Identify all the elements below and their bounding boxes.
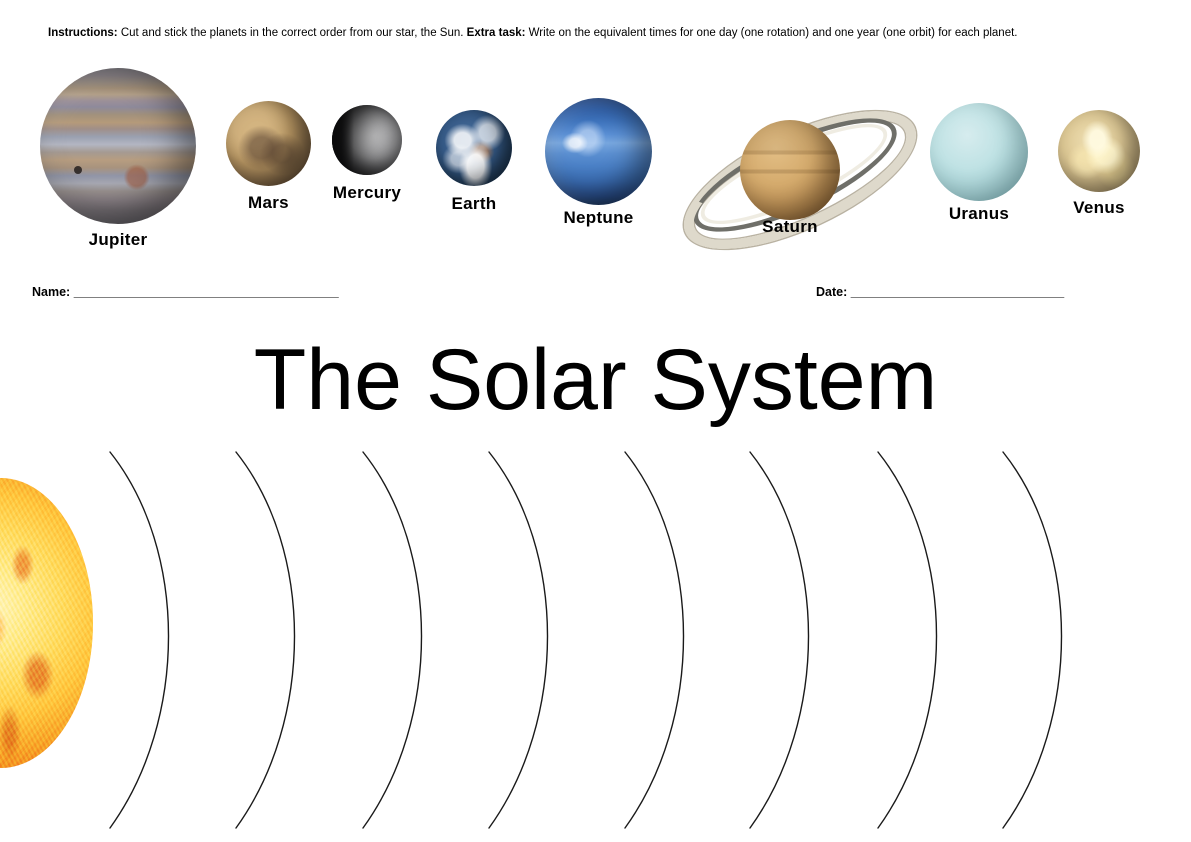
planet-cutout-neptune[interactable]: Neptune	[545, 98, 652, 240]
mars-planet-icon	[226, 101, 311, 186]
planet-label-neptune: Neptune	[563, 208, 633, 228]
earth-planet-icon	[436, 110, 512, 186]
planet-label-jupiter: Jupiter	[89, 230, 148, 250]
orbit-arc-8	[1003, 452, 1062, 828]
uranus-planet-icon	[930, 103, 1028, 201]
worksheet-page: Instructions: Cut and stick the planets …	[0, 0, 1191, 842]
orbit-arc-4	[489, 452, 548, 828]
planet-cutout-uranus[interactable]: Uranus	[930, 103, 1028, 233]
orbit-arc-1	[110, 452, 169, 828]
date-write-line[interactable]: _________________________________	[851, 285, 1064, 299]
planet-cutout-earth[interactable]: Earth	[436, 110, 512, 220]
planet-label-saturn: Saturn	[762, 217, 818, 237]
extra-task-text: Write on the equivalent times for one da…	[525, 27, 1017, 39]
extra-task-label: Extra task:	[467, 27, 526, 39]
planet-cutout-mercury[interactable]: Mercury	[332, 105, 402, 208]
orbit-arc-5	[625, 452, 684, 828]
instructions-line: Instructions: Cut and stick the planets …	[48, 26, 1158, 40]
saturn-planet-icon	[740, 120, 840, 220]
name-field[interactable]: Name: __________________________________…	[32, 285, 338, 299]
page-title: The Solar System	[0, 332, 1191, 428]
name-write-line[interactable]: ________________________________________…	[74, 285, 339, 299]
planet-label-mercury: Mercury	[333, 183, 401, 203]
orbit-arc-2	[236, 452, 295, 828]
planet-label-earth: Earth	[452, 194, 497, 214]
orbit-arcs-svg	[0, 440, 1191, 842]
planet-cutout-venus[interactable]: Venus	[1058, 110, 1140, 228]
orbit-arc-6	[750, 452, 809, 828]
orbit-arc-7	[878, 452, 937, 828]
orbit-arc-3	[363, 452, 422, 828]
planet-cutout-saturn[interactable]: Saturn	[673, 75, 907, 265]
planet-cutout-jupiter[interactable]: Jupiter	[40, 68, 196, 243]
planet-label-uranus: Uranus	[949, 204, 1009, 224]
neptune-planet-icon	[545, 98, 652, 205]
jupiter-moon-shadow-icon	[74, 166, 82, 174]
jupiter-planet-icon	[40, 68, 196, 224]
planet-label-mars: Mars	[248, 193, 289, 213]
venus-planet-icon	[1058, 110, 1140, 192]
mercury-planet-icon	[332, 105, 402, 175]
planet-cutout-mars[interactable]: Mars	[226, 101, 311, 219]
date-label: Date:	[816, 285, 847, 299]
instructions-text: Cut and stick the planets in the correct…	[118, 27, 467, 39]
planet-label-venus: Venus	[1073, 198, 1125, 218]
name-label: Name:	[32, 285, 70, 299]
instructions-label: Instructions:	[48, 27, 118, 39]
orbit-arc-group	[0, 440, 1191, 842]
mercury-terminator-shadow-icon	[332, 105, 354, 175]
date-field[interactable]: Date: _________________________________	[816, 285, 1064, 299]
